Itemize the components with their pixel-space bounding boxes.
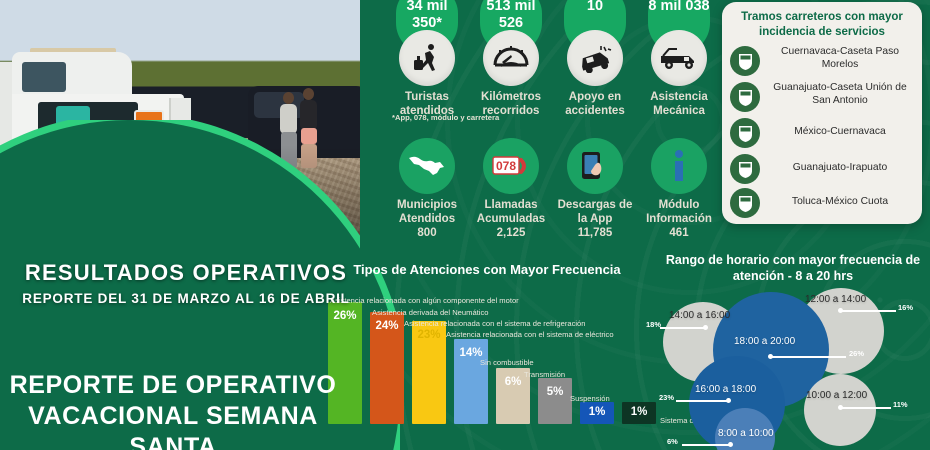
tramo-item-2[interactable]: Guanajuato-Caseta Unión de San Antonio xyxy=(730,82,916,116)
tramo-item-4[interactable]: Guanajuato-Irapuato xyxy=(730,154,916,188)
stat-value: 11,785 xyxy=(578,227,613,239)
stat-label: Municipios Atendidos800 xyxy=(387,198,467,240)
bar-6: 1% xyxy=(580,402,614,424)
bar-label-1: Asistencia derivada del Neumático xyxy=(372,308,489,317)
bubble-10-12 xyxy=(804,374,876,446)
stat-value: 2,125 xyxy=(497,227,526,239)
highway-shield-icon xyxy=(730,118,760,148)
stat-value: 34 mil 350* xyxy=(390,0,464,32)
bar-value-5: 5% xyxy=(538,386,572,398)
tramo-label: Guanajuato-Caseta Unión de San Antonio xyxy=(764,81,916,107)
highway-shield-icon xyxy=(730,82,760,112)
bubble-pct-12-14: 16% xyxy=(898,303,913,312)
report-date-range: REPORTE DEL 31 DE MARZO AL 16 DE ABRIL xyxy=(18,290,354,308)
tramo-label: Guanajuato-Irapuato xyxy=(764,161,916,174)
tramo-item-5[interactable]: Toluca-México Cuota xyxy=(730,188,916,222)
stat-value: 513 mil 526 xyxy=(474,0,548,32)
bar-3: 14% xyxy=(454,339,488,424)
bar-label-3: Asistencia relacionada con el sistema de… xyxy=(446,330,614,339)
tramos-panel: Tramos carreteros con mayor incidencia d… xyxy=(722,2,922,224)
svg-text:078: 078 xyxy=(496,159,516,173)
highway-shield-icon xyxy=(730,46,760,76)
bubble-label-8-10: 8:00 a 10:00 xyxy=(718,428,774,439)
bar-label-2: Asistencia relacionada con el sistema de… xyxy=(404,319,586,328)
tramo-item-1[interactable]: Cuernavaca-Caseta Paso Morelos xyxy=(730,46,916,80)
page-title: RESULTADOS OPERATIVOS xyxy=(0,260,372,286)
bar-1: 24% xyxy=(370,312,404,424)
crashed-car-icon xyxy=(567,30,623,86)
bar-label-0: Asistencia relacionada con algún compone… xyxy=(330,296,519,305)
tow-truck-icon xyxy=(651,30,707,86)
bubble-chart-title: Rango de horario con mayor frecuencia de… xyxy=(662,252,924,284)
bubble-chart: Rango de horario con mayor frecuencia de… xyxy=(650,250,930,450)
information-icon xyxy=(651,138,707,194)
infographic-root: ATENCIÓN AL TURISTA 078 ÁNGELES VERDES D… xyxy=(0,0,930,450)
bar-chart: Tipos de Atenciones con Mayor Frecuencia… xyxy=(322,258,670,450)
bar-label-4: Sin combustible xyxy=(480,358,534,367)
report-headline: REPORTE DE OPERATIVO VACACIONAL SEMANA S… xyxy=(0,370,346,450)
speedometer-icon xyxy=(483,30,539,86)
bubble-label-16-18: 16:00 a 18:00 xyxy=(695,384,756,395)
stat-value: 461 xyxy=(669,227,688,239)
phone-078-icon: 078 xyxy=(483,138,539,194)
bar-value-2: 23% xyxy=(412,329,446,341)
bubble-pct-16-18: 23% xyxy=(659,393,674,402)
bar-value-6: 1% xyxy=(580,406,614,418)
bubble-pct-10-12: 11% xyxy=(893,400,908,409)
mexico-map-icon xyxy=(399,138,455,194)
bubble-pct-18-20: 26% xyxy=(849,349,864,358)
tramo-item-3[interactable]: México-Cuernavaca xyxy=(730,118,916,152)
stat-value: 8 mil 038 xyxy=(642,0,716,15)
mobile-app-icon xyxy=(567,138,623,194)
stat-value: 800 xyxy=(417,227,436,239)
tramo-label: México-Cuernavaca xyxy=(764,125,916,138)
bubble-label-18-20: 18:00 a 20:00 xyxy=(734,336,795,347)
bar-value-1: 24% xyxy=(370,320,404,332)
stat-label: Apoyo en accidentes xyxy=(555,90,635,118)
bar-label-5: Transmisión xyxy=(524,370,565,379)
tourist-luggage-icon xyxy=(399,30,455,86)
bar-label-6: Suspensión xyxy=(570,394,610,403)
top-stats-row: 34 mil 350* Turistas atendidos 513 mil 5… xyxy=(390,0,720,126)
bar-2: 23% xyxy=(412,321,446,424)
bubble-pct-14-16: 18% xyxy=(646,320,661,329)
tramos-panel-title: Tramos carreteros con mayor incidencia d… xyxy=(732,10,912,40)
stats-footnote: *App, 078, módulo y carretera xyxy=(392,113,499,122)
tramo-label: Cuernavaca-Caseta Paso Morelos xyxy=(764,45,916,71)
bubble-label-14-16: 14:00 a 16:00 xyxy=(669,310,730,321)
stat-label: Llamadas Acumuladas2,125 xyxy=(471,198,551,240)
highway-shield-icon xyxy=(730,154,760,184)
bottom-stats-row: Municipios Atendidos800 078 Llamadas Acu… xyxy=(390,138,720,248)
tramo-label: Toluca-México Cuota xyxy=(764,195,916,208)
bar-value-0: 26% xyxy=(328,310,362,322)
bubble-pct-8-10: 6% xyxy=(667,437,678,446)
stat-label: Módulo Información461 xyxy=(639,198,719,240)
bubble-label-10-12: 10:00 a 12:00 xyxy=(806,390,867,401)
stat-value: 10 xyxy=(558,0,632,15)
highway-shield-icon xyxy=(730,188,760,218)
bar-5: 5% xyxy=(538,378,572,424)
bubble-label-12-14: 12:00 a 14:00 xyxy=(805,294,866,305)
stat-label: Asistencia Mecánica xyxy=(639,90,719,118)
stat-label: Descargas de la App11,785 xyxy=(555,198,635,240)
